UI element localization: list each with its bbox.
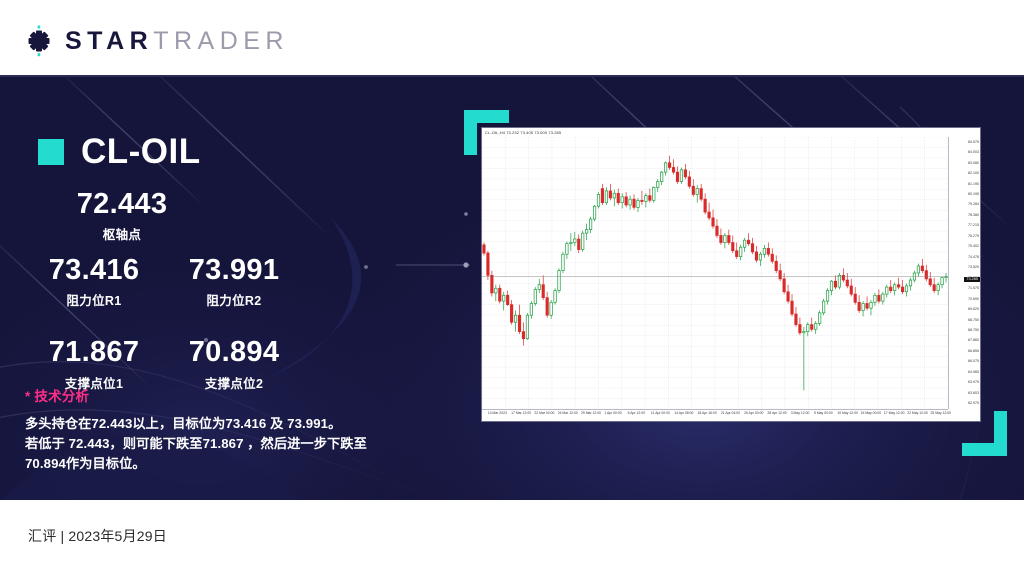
time-axis-tick: 21 Apr 04:00 [721,412,740,415]
price-axis-tick: 66.075 [968,360,979,364]
time-axis-tick: 10 May 12:00 [837,412,858,415]
price-axis-tick: 62.975 [968,402,979,406]
brand-name-bold: STAR [65,29,153,54]
pivot-label: 枢轴点 [52,224,192,243]
technical-analysis-heading: * 技术分析 [25,385,395,405]
poster: STAR TRADER [0,0,1024,576]
price-axis-tick: 84.575 [968,141,979,145]
time-axis-tick: 22 May 12:00 [907,412,928,415]
analysis-line-2: 若低于 72.443，则可能下跌至71.867 ，然后进一步下跌至 [25,434,395,454]
footer-bar: 汇评 | 2023年5月29日 [0,500,1024,576]
time-axis-tick: 24 Mar 12:00 [558,412,578,415]
chart-plot-area[interactable] [482,137,948,409]
time-axis-tick: 28 Apr 12:00 [767,412,786,415]
price-axis-tick: 71.575 [968,287,979,291]
price-axis-tick: 81.190 [968,183,979,187]
resistance-row: 73.416 阻力位R1 73.991 阻力位R2 [24,255,304,309]
support-1-value: 71.867 [24,337,164,367]
title-bullet-square [38,139,64,165]
price-axis-tick: 64.965 [968,371,979,375]
price-axis-tick: 66.855 [968,350,979,354]
price-axis-tick: 73.520 [968,266,979,270]
brand-wordmark: STAR TRADER [65,29,289,54]
resistance-2-label: 阻力位R2 [164,290,304,309]
price-axis-tick: 67.860 [968,339,979,343]
resistance-1-cell: 73.416 阻力位R1 [24,255,164,309]
pivot-block: 72.443 枢轴点 [52,189,192,243]
technical-analysis: * 技术分析 多头持仓在72.443以上，目标位为73.416 及 73.991… [25,385,395,474]
chart-title: CL-OIL,H4 73.232 73.405 73.000 73.285 [482,128,980,137]
time-axis: 14 Mar 202317 Mar 12:0022 Mar 00:0024 Ma… [482,409,948,421]
price-axis: 84.57584.00383.08082.10081.19080.19579.2… [948,137,980,409]
corner-bracket-top-left-v [464,110,477,155]
time-axis-tick: 14 Apr 08:00 [674,412,693,415]
time-axis-tick: 15 May 00:00 [861,412,882,415]
resistance-2-value: 73.991 [164,255,304,285]
price-axis-tick: 63.975 [968,381,979,385]
pivot-value: 72.443 [52,189,192,219]
price-axis-tick: 68.750 [968,319,979,323]
time-axis-tick: 3 May 12:00 [791,412,810,415]
time-axis-tick: 11 Apr 00:00 [651,412,670,415]
time-axis-tick: 1 Apr 00:00 [604,412,621,415]
price-axis-tick: 75.402 [968,245,979,249]
time-axis-tick: 26 Apr 00:00 [744,412,763,415]
corner-bracket-bottom-right-v [994,411,1007,456]
price-axis-tick: 69.620 [968,308,979,312]
price-axis-tick: 76.275 [968,235,979,239]
support-2-value: 70.894 [164,337,304,367]
price-axis-tick: 82.100 [968,172,979,176]
main-panel: CL-OIL 72.443 枢轴点 73.416 阻力位R1 73.991 阻力… [0,77,1024,500]
page-title: CL-OIL [81,134,201,169]
resistance-2-cell: 73.991 阻力位R2 [164,255,304,309]
time-axis-tick: 22 Mar 00:00 [534,412,554,415]
time-axis-tick: 17 May 12:00 [884,412,905,415]
price-axis-tick: 79.284 [968,203,979,207]
support-1-cell: 71.867 支撑点位1 [24,337,164,391]
resistance-1-label: 阻力位R1 [24,290,164,309]
brand-logo: STAR TRADER [22,24,289,58]
time-axis-tick: 29 Mar 12:00 [581,412,601,415]
resistance-1-value: 73.416 [24,255,164,285]
support-row: 71.867 支撑点位1 70.894 支撑点位2 [24,337,304,391]
price-axis-tick: 68.750 [968,329,979,333]
current-price-tag: 73.285 [964,277,980,283]
price-axis-tick: 84.003 [968,151,979,155]
analysis-line-3: 70.894作为目标位。 [25,454,395,474]
time-axis-tick: 5 May 00:00 [814,412,833,415]
price-axis-tick: 70.690 [968,298,979,302]
brand-name-light: TRADER [153,29,289,54]
price-axis-tick: 74.478 [968,256,979,260]
header-bar: STAR TRADER [0,0,1024,77]
time-axis-tick: 25 May 12:00 [931,412,952,415]
analysis-line-1: 多头持仓在72.443以上，目标位为73.416 及 73.991。 [25,414,395,434]
time-axis-tick: 14 Mar 2023 [488,412,507,415]
support-2-cell: 70.894 支撑点位2 [164,337,304,391]
levels-grid: 73.416 阻力位R1 73.991 阻力位R2 71.867 支撑点位1 7… [24,255,304,392]
technical-analysis-body: 多头持仓在72.443以上，目标位为73.416 及 73.991。 若低于 7… [25,414,395,474]
footer-caption: 汇评 | 2023年5月29日 [28,526,167,546]
price-axis-tick: 63.603 [968,392,979,396]
star-asterisk-icon [22,24,56,58]
time-axis-tick: 17 Mar 12:00 [511,412,531,415]
price-axis-tick: 80.195 [968,193,979,197]
time-axis-tick: 18 Apr 16:00 [698,412,717,415]
instrument-title-row: CL-OIL [38,134,201,169]
price-chart[interactable]: CL-OIL,H4 73.232 73.405 73.000 73.285 84… [481,127,981,422]
price-axis-tick: 77.215 [968,224,979,228]
candlestick-series [482,137,948,409]
time-axis-tick: 6 Apr 12:00 [628,412,645,415]
chart-zone: CL-OIL,H4 73.232 73.405 73.000 73.285 84… [455,110,1010,470]
price-axis-tick: 83.080 [968,162,979,166]
price-axis-tick: 78.380 [968,214,979,218]
